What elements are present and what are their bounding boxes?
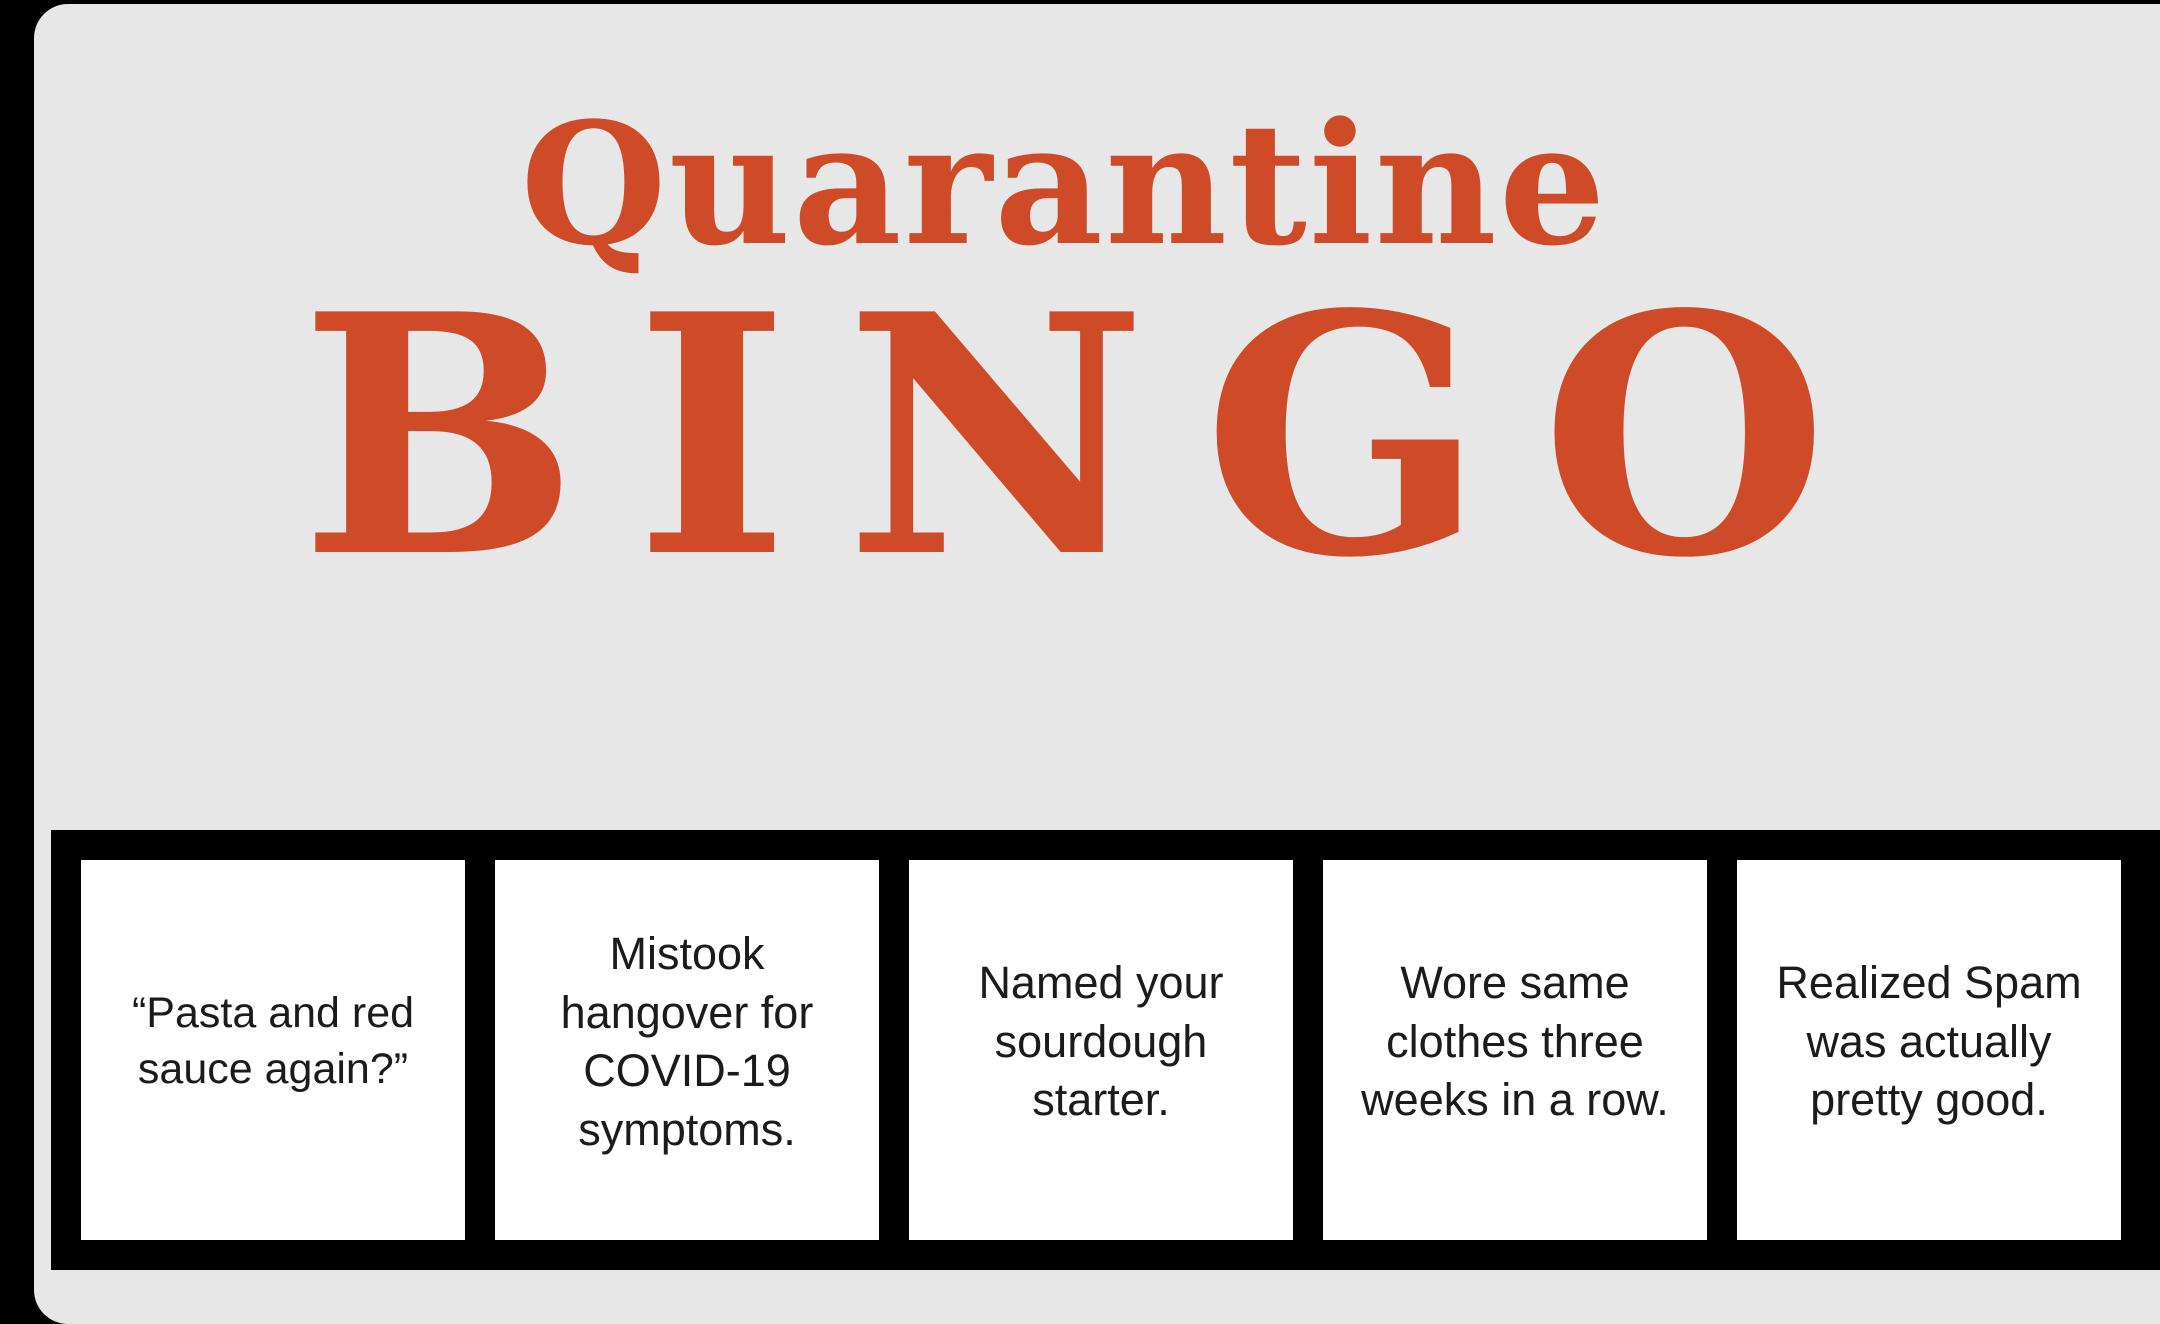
card-header: Quarantine BINGO (34, 4, 2094, 577)
bingo-cell-label: Mistook hangover for COVID-19 symptoms. (513, 925, 861, 1159)
bingo-grid: “Pasta and red sauce again?” Mistook han… (51, 830, 2160, 1270)
bingo-wordmark: BINGO (34, 268, 2094, 577)
bingo-cell-label: Named your sourdough starter. (927, 954, 1275, 1130)
bingo-letter-i: I (635, 296, 789, 577)
bingo-letter-g: G (1203, 296, 1485, 577)
bingo-cell[interactable]: “Pasta and red sauce again?” (81, 860, 465, 1240)
bingo-row: “Pasta and red sauce again?” Mistook han… (51, 860, 2160, 1270)
bingo-letter-b: B (300, 296, 579, 577)
bingo-cell[interactable]: Named your sourdough starter. (909, 860, 1293, 1240)
bingo-letter-n: N (845, 296, 1147, 577)
bingo-cell[interactable]: Wore same clothes three weeks in a row. (1323, 860, 1707, 1240)
bingo-letter-o: O (1541, 296, 1828, 577)
bingo-cell[interactable]: Mistook hangover for COVID-19 symptoms. (495, 860, 879, 1240)
bingo-cell-label: “Pasta and red sauce again?” (99, 986, 447, 1098)
bingo-card: Quarantine BINGO “Pasta and red sauce ag… (34, 4, 2160, 1324)
bingo-cell[interactable]: Realized Spam was actually pretty good. (1737, 860, 2121, 1240)
bingo-cell-label: Wore same clothes three weeks in a row. (1341, 954, 1689, 1130)
bingo-cell-label: Realized Spam was actually pretty good. (1755, 954, 2103, 1130)
